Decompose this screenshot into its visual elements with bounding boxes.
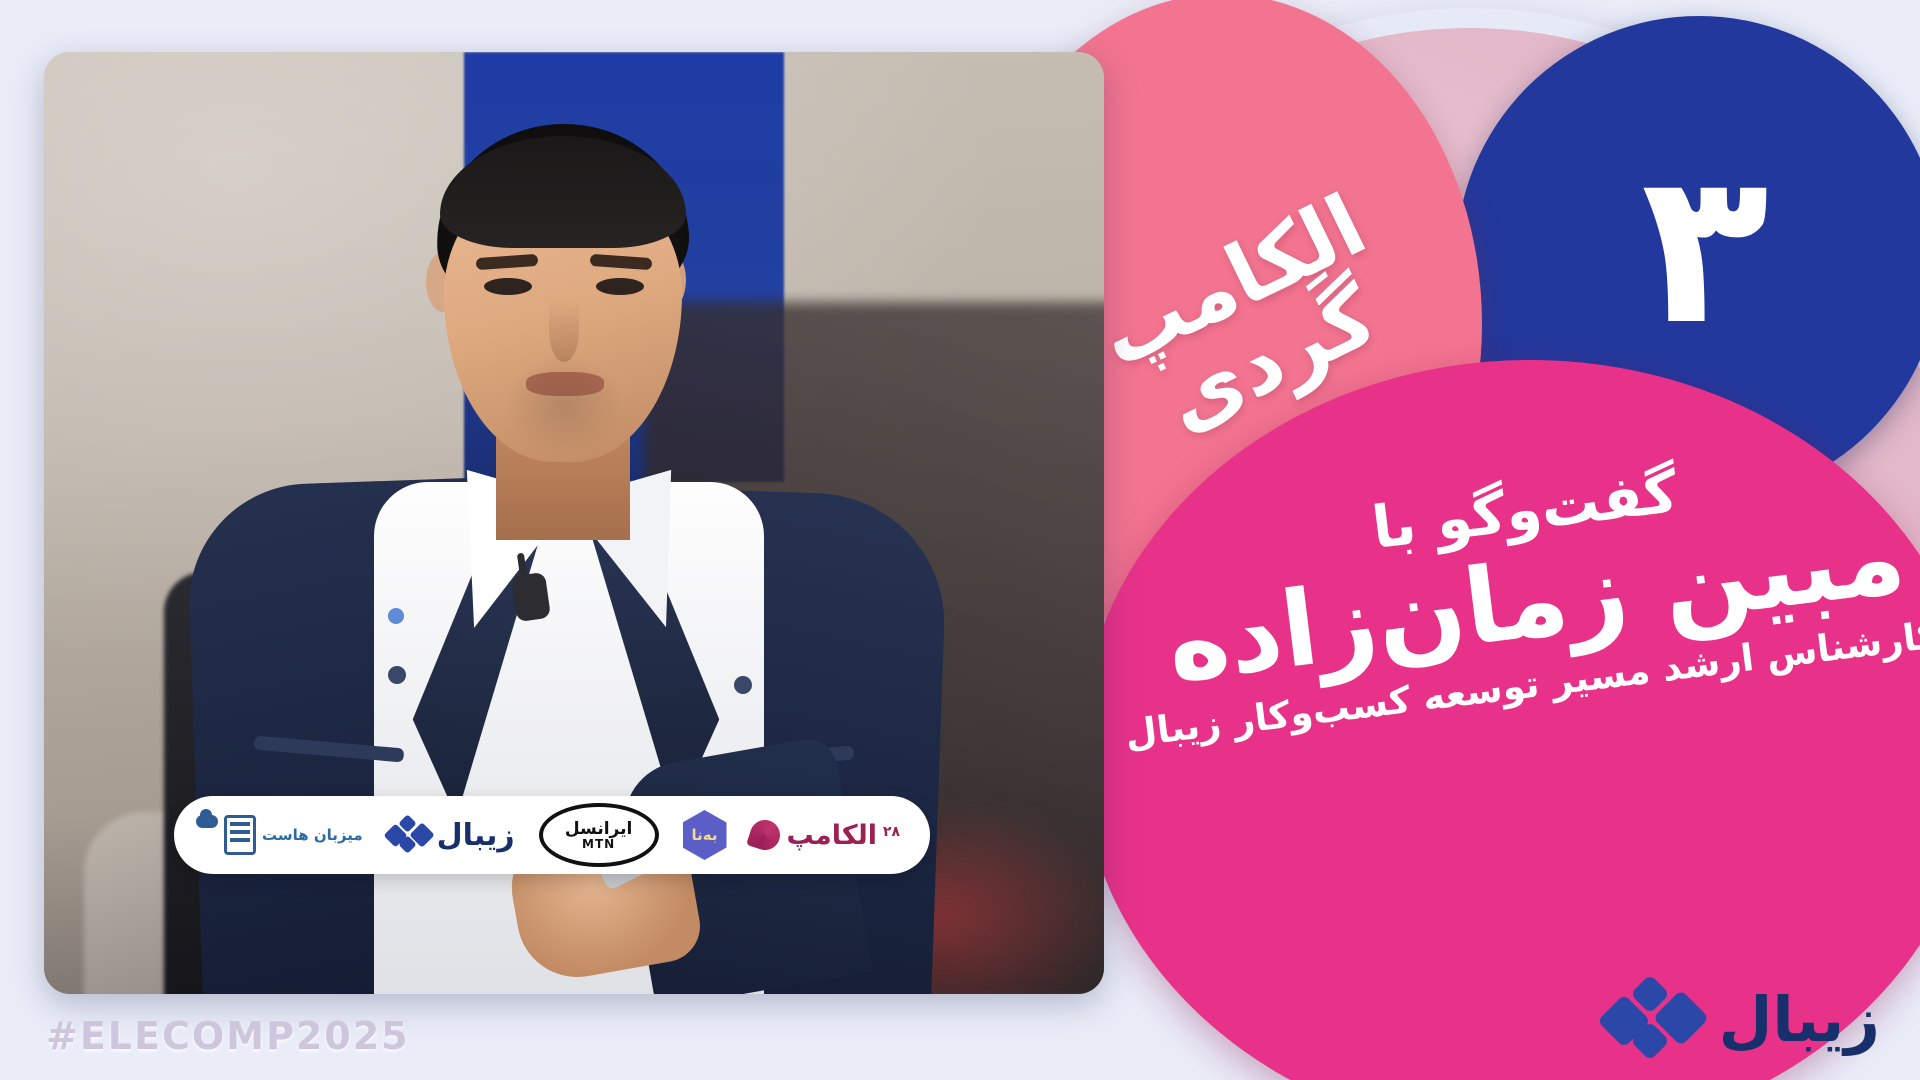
hair-fringe xyxy=(440,136,686,248)
sponsor-logo-irancell[interactable]: ایرانسل MTN xyxy=(539,803,659,867)
elecomp-wordmark: الکامپ xyxy=(786,820,877,851)
mizban-host-wordmark: میزبان هاست xyxy=(262,826,363,844)
eye-left xyxy=(484,278,532,295)
sponsor-logo-bar: ۲۸ الکامپ به‌نا ایرانسل MTN زیبال xyxy=(174,796,930,874)
jacket-button-right xyxy=(734,676,752,694)
zibal-wordmark: زیبال xyxy=(437,818,515,853)
elecomp-swirl-icon xyxy=(747,816,785,854)
zibal-diamond-icon xyxy=(1605,980,1701,1058)
brand-wordmark: زیبال xyxy=(1719,983,1880,1056)
jacket-button-left xyxy=(388,666,406,684)
event-hashtag: #ELECOMP2025 xyxy=(46,1014,410,1058)
episode-number: ۳ xyxy=(1641,165,1769,333)
mtn-wordmark: MTN xyxy=(582,838,615,850)
poster-stage: ۲۸ الکامپ به‌نا ایرانسل MTN زیبال xyxy=(0,0,1920,1080)
sponsor-logo-mizban-host[interactable]: میزبان هاست xyxy=(204,815,363,855)
irancell-wordmark: ایرانسل xyxy=(565,821,632,838)
eye-right xyxy=(596,278,644,295)
zibal-diamond-icon xyxy=(387,817,431,853)
sponsor-logo-zibal[interactable]: زیبال xyxy=(387,817,515,853)
lavalier-microphone-icon xyxy=(511,572,551,622)
server-cloud-icon xyxy=(224,815,256,855)
lapel-pin xyxy=(388,608,404,624)
behna-wordmark: به‌نا xyxy=(692,826,718,844)
behna-hexagon-icon: به‌نا xyxy=(683,810,727,860)
elecomp-edition-number: ۲۸ xyxy=(883,824,900,840)
chin-shading xyxy=(494,332,634,452)
brand-lockup[interactable]: زیبال xyxy=(1605,980,1880,1058)
interview-photo-panel: ۲۸ الکامپ به‌نا ایرانسل MTN زیبال xyxy=(44,52,1104,994)
irancell-oval-icon: ایرانسل MTN xyxy=(539,803,659,867)
cloud-icon xyxy=(196,815,218,828)
sponsor-logo-elecomp[interactable]: ۲۸ الکامپ xyxy=(750,820,900,851)
guest-info-block: گفت‌وگو با مبین زمان‌زاده کارشناس ارشد م… xyxy=(1129,431,1920,754)
sponsor-logo-behna[interactable]: به‌نا xyxy=(683,810,727,860)
